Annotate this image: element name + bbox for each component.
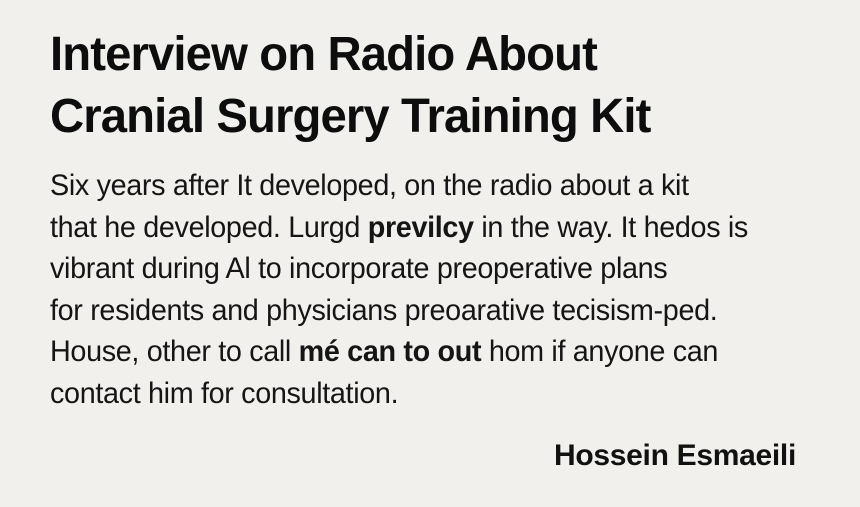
author-signature: Hossein Esmaeili: [554, 437, 796, 475]
article-body: Six years after It developed, on the rad…: [50, 165, 820, 414]
article-card: Interview on Radio About Cranial Surgery…: [0, 0, 860, 507]
body-text: House, other to call: [50, 335, 299, 368]
body-text: contact him for consultation.: [50, 377, 398, 410]
body-text: for residents and physicians preoarative…: [50, 294, 717, 327]
body-line-1: Six years after It developed, on the rad…: [50, 165, 801, 207]
body-text: that he developed. Lurgd: [50, 211, 368, 244]
body-text: vibrant during Al to incorporate preoper…: [50, 252, 667, 285]
body-text: in the way. It hedos is: [474, 211, 748, 244]
body-text: Six years after It developed, on the rad…: [50, 169, 689, 202]
body-line-5: House, other to call mé can to out hom i…: [50, 331, 801, 373]
body-line-3: vibrant during Al to incorporate preoper…: [50, 248, 801, 290]
title-line-1: Interview on Radio About: [50, 24, 799, 86]
body-line-2: that he developed. Lurgd previlcy in the…: [50, 207, 801, 249]
body-text: hom if anyone can: [481, 335, 718, 368]
body-text-emphasis: previlcy: [368, 211, 474, 244]
page-title: Interview on Radio About Cranial Surgery…: [50, 24, 810, 148]
body-text-emphasis: mé can to out: [299, 335, 482, 368]
body-line-6: contact him for consultation.: [50, 373, 801, 415]
body-line-4: for residents and physicians preoarative…: [50, 290, 801, 332]
title-line-2: Cranial Surgery Training Kit: [50, 86, 799, 148]
